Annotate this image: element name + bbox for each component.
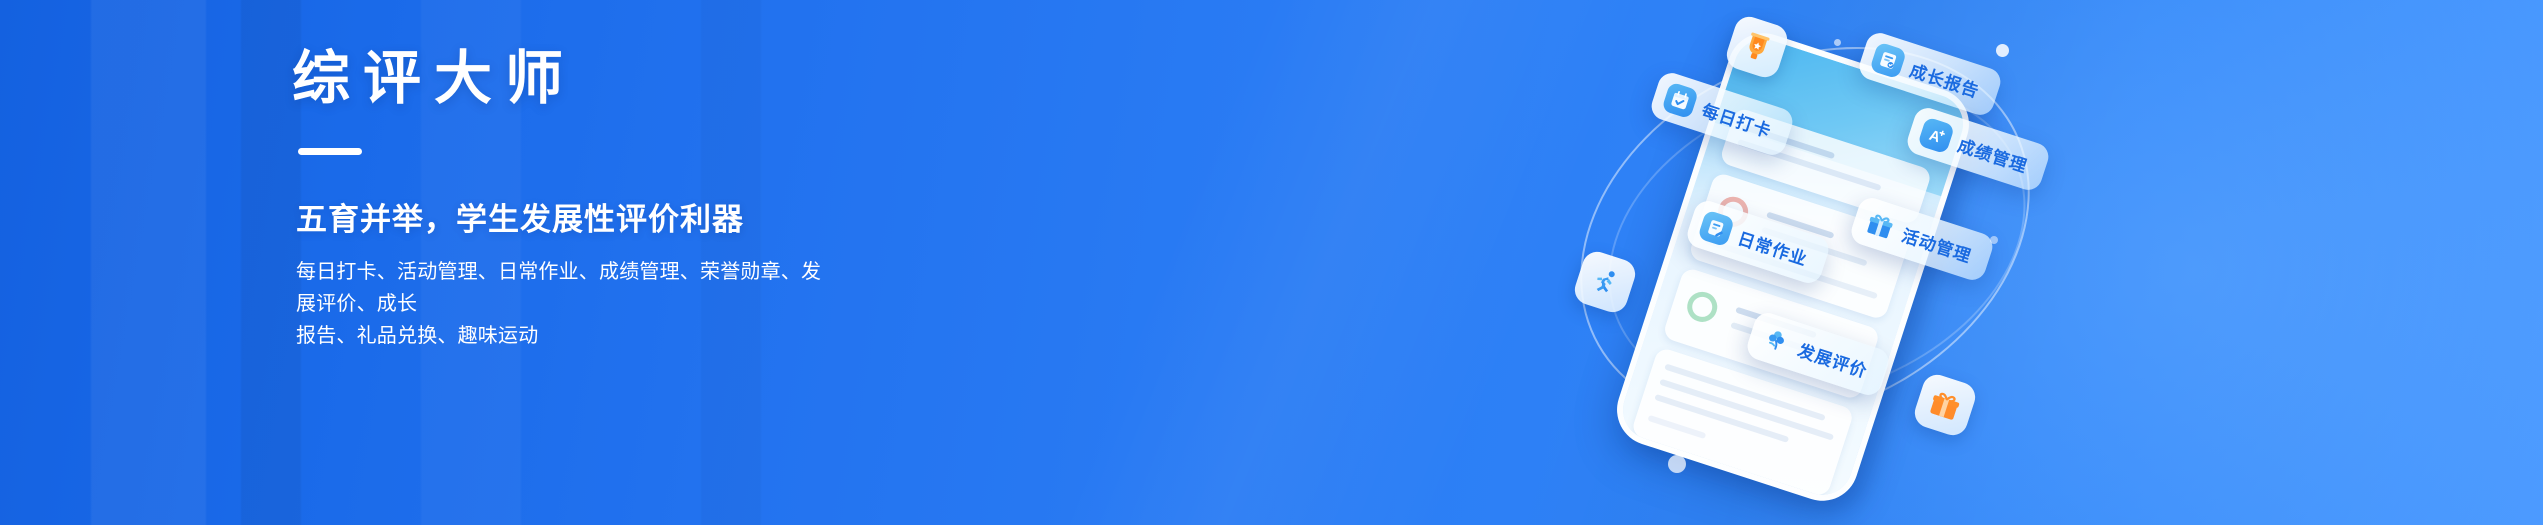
feature-pill-label: 每日打卡 [1699, 96, 1775, 142]
page-title: 综评大师 [292, 44, 1192, 114]
description-line-2: 报告、礼品兑换、趣味运动 [296, 320, 836, 352]
grade-a-plus-icon: A [1917, 117, 1955, 155]
feature-pill-label: 成长报告 [1907, 56, 1983, 102]
banner-illustration: 每日打卡 成长报告 A 成绩管理 [1560, 0, 2080, 525]
bokeh-dot [1996, 44, 2009, 57]
title-divider [298, 148, 362, 155]
flower-icon [1757, 322, 1795, 360]
feature-pill-label: 日常作业 [1735, 224, 1811, 270]
banner-description: 每日打卡、活动管理、日常作业、成绩管理、荣誉勋章、发展评价、成长 报告、礼品兑换… [296, 256, 836, 353]
bokeh-dot [1668, 455, 1686, 473]
feature-pill-label: 发展评价 [1795, 336, 1871, 382]
banner-copy: 综评大师 五育并举，学生发展性评价利器 每日打卡、活动管理、日常作业、成绩管理、… [292, 44, 1192, 353]
banner-subtitle: 五育并举，学生发展性评价利器 [296, 194, 1192, 239]
report-icon [1869, 42, 1907, 80]
description-line-1: 每日打卡、活动管理、日常作业、成绩管理、荣誉勋章、发展评价、成长 [296, 256, 836, 321]
calendar-check-icon [1661, 82, 1699, 120]
feature-pill-label: 活动管理 [1899, 221, 1975, 267]
bokeh-dot [1834, 39, 1841, 46]
homework-icon [1697, 210, 1735, 248]
svg-text:A: A [1927, 128, 1942, 147]
gift-icon [1861, 207, 1899, 245]
feature-pill-label: 成绩管理 [1955, 131, 2031, 177]
bokeh-dot [1990, 236, 1998, 244]
promo-banner: 综评大师 五育并举，学生发展性评价利器 每日打卡、活动管理、日常作业、成绩管理、… [0, 0, 2543, 525]
